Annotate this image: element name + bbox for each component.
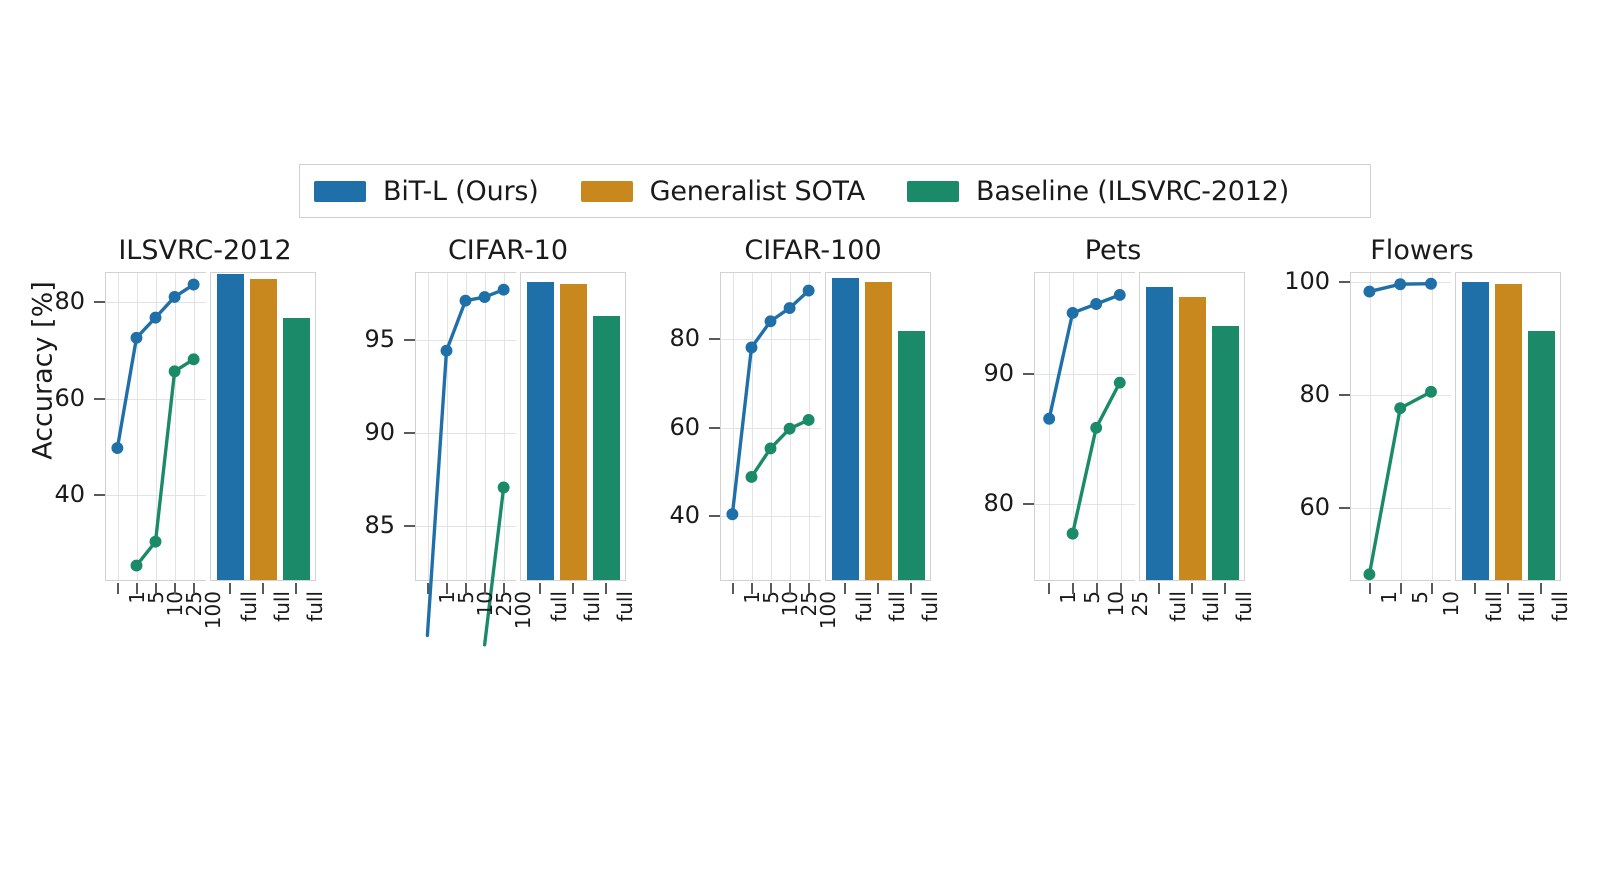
y-tick-label: 80: [1230, 380, 1330, 408]
x-tick-label: full: [580, 591, 604, 622]
y-tick: [1023, 373, 1034, 375]
x-tick: [808, 583, 810, 594]
x-tick: [229, 583, 231, 594]
chart-legend: BiT-L (Ours) Generalist SOTA Baseline (I…: [299, 164, 1371, 218]
x-tick: [1224, 583, 1226, 594]
data-point-marker: [1090, 422, 1102, 434]
data-point-marker: [803, 414, 815, 426]
x-tick: [1474, 583, 1476, 594]
data-point-marker: [1425, 386, 1437, 398]
x-tick-label: 100: [511, 591, 535, 629]
figure-canvas: BiT-L (Ours) Generalist SOTA Baseline (I…: [0, 0, 1600, 891]
curve-axes-flowers: [1350, 272, 1451, 581]
data-point-marker: [1394, 402, 1406, 414]
curve-axes-pets: [1034, 272, 1135, 581]
bar-bit-l-ours: [527, 282, 554, 580]
x-tick-label: full: [1166, 591, 1190, 622]
data-point-marker: [131, 560, 143, 572]
y-tick-label: 80: [914, 489, 1014, 517]
data-point-marker: [1363, 286, 1375, 298]
y-tick: [1339, 507, 1350, 509]
data-point-marker: [1425, 278, 1437, 290]
data-point-marker: [1090, 298, 1102, 310]
y-tick: [1339, 394, 1350, 396]
x-tick-label: 1: [1377, 591, 1401, 604]
bar-baseline-ilsvrc-2012: [283, 318, 310, 580]
y-tick-label: 40: [0, 480, 85, 508]
y-tick-label: 60: [0, 384, 85, 412]
x-tick: [136, 583, 138, 594]
x-tick-label: 10: [1439, 591, 1463, 616]
data-point-marker: [131, 332, 143, 344]
x-tick-label: 100: [816, 591, 840, 629]
bar-bit-l-ours: [217, 274, 244, 580]
data-point-marker: [765, 315, 777, 327]
data-point-marker: [150, 312, 162, 324]
legend-label-bit-l: BiT-L (Ours): [383, 176, 539, 207]
x-tick: [1048, 583, 1050, 594]
legend-swatch-generalist-sota: [581, 181, 633, 202]
data-point-marker: [1043, 413, 1055, 425]
panel-flowers: Flowers1510fullfullfull6080100: [1272, 235, 1572, 685]
data-point-marker: [1114, 289, 1126, 301]
legend-entry-bit-l: BiT-L (Ours): [314, 176, 539, 207]
legend-entry-generalist-sota: Generalist SOTA: [581, 176, 865, 207]
bar-bit-l-ours: [1146, 287, 1173, 580]
x-tick-label: full: [547, 591, 571, 622]
y-tick: [94, 301, 105, 303]
data-point-marker: [479, 291, 491, 303]
x-tick: [465, 583, 467, 594]
data-point-marker: [1114, 377, 1126, 389]
x-tick: [427, 583, 429, 594]
y-tick-label: 85: [295, 511, 395, 539]
series-line: [751, 420, 808, 477]
data-point-marker: [498, 284, 510, 296]
y-tick: [94, 494, 105, 496]
data-point-marker: [188, 353, 200, 365]
x-tick: [484, 583, 486, 594]
data-point-marker: [1394, 278, 1406, 290]
x-tick: [1400, 583, 1402, 594]
bar-axes-flowers: [1455, 272, 1561, 581]
x-tick: [1191, 583, 1193, 594]
x-tick: [155, 583, 157, 594]
x-tick: [1431, 583, 1433, 594]
bar-bit-l-ours: [832, 278, 859, 580]
panel-ilsvrc-2012: ILSVRC-2012151025100fullfullfull406080: [60, 235, 350, 685]
series-line: [1073, 383, 1120, 534]
x-tick-label: 100: [201, 591, 225, 629]
x-tick-label: full: [1515, 591, 1539, 622]
x-tick: [174, 583, 176, 594]
series-line: [485, 488, 504, 645]
x-tick-label: full: [270, 591, 294, 622]
legend-label-baseline: Baseline (ILSVRC-2012): [976, 176, 1289, 207]
x-tick-label: 5: [1408, 591, 1432, 604]
y-tick: [94, 398, 105, 400]
series-plot: [721, 273, 821, 580]
x-tick: [262, 583, 264, 594]
y-tick-label: 80: [0, 287, 85, 315]
x-tick: [844, 583, 846, 594]
x-tick: [1369, 583, 1371, 594]
legend-swatch-bit-l: [314, 181, 366, 202]
data-point-marker: [169, 291, 181, 303]
x-tick: [605, 583, 607, 594]
panel-cifar-100: CIFAR-100151025100fullfullfull406080: [672, 235, 954, 685]
data-point-marker: [726, 508, 738, 520]
data-point-marker: [1067, 528, 1079, 540]
x-tick-label: full: [1482, 591, 1506, 622]
y-tick: [1339, 281, 1350, 283]
panel-title-flowers: Flowers: [1272, 235, 1572, 266]
x-tick-label: 1: [1056, 591, 1080, 604]
panel-title-cifar-100: CIFAR-100: [672, 235, 954, 266]
x-tick-label: full: [1548, 591, 1572, 622]
x-tick: [117, 583, 119, 594]
y-tick-label: 90: [914, 359, 1014, 387]
x-tick: [539, 583, 541, 594]
series-line: [136, 359, 193, 565]
x-tick: [910, 583, 912, 594]
y-tick: [1023, 503, 1034, 505]
panel-title-ilsvrc-2012: ILSVRC-2012: [60, 235, 350, 266]
x-tick-label: 5: [1080, 591, 1104, 604]
x-tick: [1158, 583, 1160, 594]
bar-baseline-ilsvrc-2012: [1528, 331, 1555, 580]
series-plot: [416, 273, 516, 580]
x-tick-label: full: [1199, 591, 1223, 622]
y-tick: [404, 432, 415, 434]
curve-axes-cifar-100: [720, 272, 821, 581]
bar-baseline-ilsvrc-2012: [1212, 326, 1239, 580]
bar-axes-cifar-100: [825, 272, 931, 581]
y-tick: [709, 427, 720, 429]
data-point-marker: [784, 302, 796, 314]
x-tick: [1120, 583, 1122, 594]
y-tick-label: 95: [295, 325, 395, 353]
y-tick-label: 40: [600, 501, 700, 529]
x-tick: [770, 583, 772, 594]
bar-baseline-ilsvrc-2012: [593, 316, 620, 580]
x-tick: [503, 583, 505, 594]
data-point-marker: [498, 482, 510, 494]
x-tick-label: 25: [1128, 591, 1152, 616]
series-line: [1369, 392, 1431, 575]
x-tick-label: full: [303, 591, 327, 622]
y-tick-label: 80: [600, 324, 700, 352]
x-tick: [193, 583, 195, 594]
x-tick: [295, 583, 297, 594]
bar-generalist-sota: [560, 284, 587, 580]
x-tick: [789, 583, 791, 594]
data-point-marker: [1067, 307, 1079, 319]
bar-generalist-sota: [250, 279, 277, 580]
bar-generalist-sota: [1179, 297, 1206, 580]
x-tick-label: 10: [1104, 591, 1128, 616]
legend-label-generalist-sota: Generalist SOTA: [650, 176, 865, 207]
x-tick: [572, 583, 574, 594]
x-tick: [1507, 583, 1509, 594]
legend-swatch-baseline: [907, 181, 959, 202]
data-point-marker: [150, 536, 162, 548]
y-tick: [404, 525, 415, 527]
data-point-marker: [460, 295, 472, 307]
series-plot: [1035, 273, 1135, 580]
bar-generalist-sota: [1495, 284, 1522, 580]
x-tick-label: full: [1232, 591, 1256, 622]
x-tick: [1072, 583, 1074, 594]
curve-axes-cifar-10: [415, 272, 516, 581]
x-tick-label: full: [885, 591, 909, 622]
x-tick-label: full: [852, 591, 876, 622]
x-tick: [446, 583, 448, 594]
series-plot: [1351, 273, 1451, 580]
data-point-marker: [169, 365, 181, 377]
x-tick: [877, 583, 879, 594]
x-tick: [1096, 583, 1098, 594]
data-point-marker: [746, 471, 758, 483]
x-tick: [732, 583, 734, 594]
legend-entry-baseline: Baseline (ILSVRC-2012): [907, 176, 1289, 207]
y-tick-label: 60: [1230, 493, 1330, 521]
y-tick: [404, 339, 415, 341]
data-point-marker: [746, 342, 758, 354]
panel-cifar-10: CIFAR-10151025100fullfullfull859095: [372, 235, 644, 685]
bar-generalist-sota: [865, 282, 892, 580]
y-tick-label: 60: [600, 413, 700, 441]
x-tick: [1540, 583, 1542, 594]
bar-axes-pets: [1139, 272, 1245, 581]
y-tick: [709, 338, 720, 340]
curve-axes-ilsvrc-2012: [105, 272, 206, 581]
panel-pets: Pets151025fullfullfull8090: [972, 235, 1254, 685]
x-tick-label: full: [918, 591, 942, 622]
bar-bit-l-ours: [1462, 282, 1489, 580]
x-tick-label: full: [613, 591, 637, 622]
data-point-marker: [188, 279, 200, 291]
data-point-marker: [1363, 568, 1375, 580]
series-plot: [106, 273, 206, 580]
data-point-marker: [765, 442, 777, 454]
data-point-marker: [803, 285, 815, 297]
panel-title-cifar-10: CIFAR-10: [372, 235, 644, 266]
y-tick: [709, 515, 720, 517]
x-tick-label: full: [237, 591, 261, 622]
y-tick-label: 100: [1230, 267, 1330, 295]
data-point-marker: [784, 423, 796, 435]
x-tick: [751, 583, 753, 594]
data-point-marker: [111, 442, 123, 454]
y-tick-label: 90: [295, 418, 395, 446]
data-point-marker: [441, 345, 453, 357]
panel-title-pets: Pets: [972, 235, 1254, 266]
